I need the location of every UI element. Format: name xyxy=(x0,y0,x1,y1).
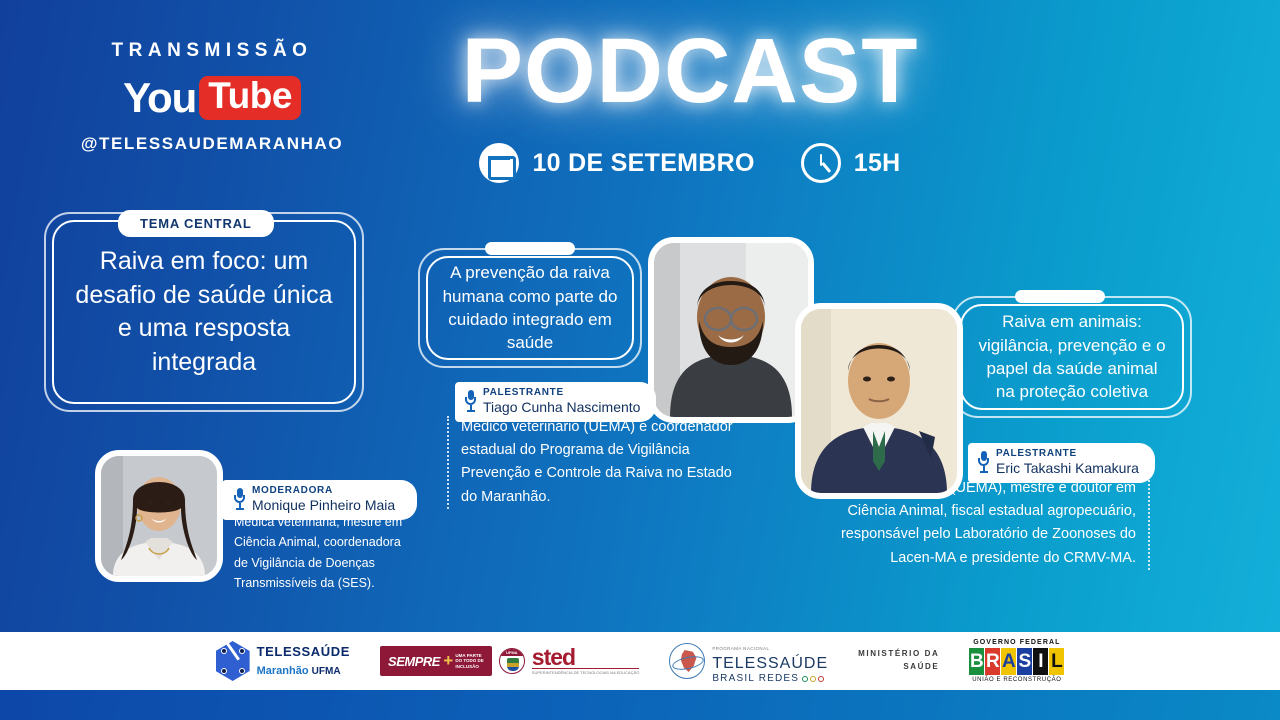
microphone-icon xyxy=(234,488,245,510)
event-time: 15H xyxy=(801,143,901,183)
sempre-sub: UMA PARTEDO TODO DEINCLUSÃO xyxy=(455,653,483,670)
event-meta-row: 10 DE SETEMBRO 15H xyxy=(430,143,950,183)
speaker-2-badge: PALESTRANTE Eric Takashi Kamakura xyxy=(968,443,1155,483)
speaker-2-topic: Raiva em animais: vigilância, prevenção … xyxy=(962,310,1182,404)
speaker-1-topic-card: A prevenção da raiva humana como parte d… xyxy=(418,248,642,368)
brasil-wordmark: B R A S I L xyxy=(969,648,1064,675)
speaker-2-portrait xyxy=(801,309,957,493)
clock-icon xyxy=(801,143,841,183)
speaker-2-card-tab xyxy=(1015,290,1105,303)
ministerio-line2: SAÚDE xyxy=(903,662,939,671)
tbr-line2: TELESSAÚDE xyxy=(712,655,828,672)
speaker-1-card-tab xyxy=(485,242,575,255)
ufma-seal-icon: UFMA xyxy=(499,648,525,674)
moderator-role: MODERADORA xyxy=(252,485,395,496)
logo-sempre-mais: SEMPRE + UMA PARTEDO TODO DEINCLUSÃO UFM… xyxy=(380,646,639,676)
governo-federal-bottom: UNIÃO E RECONSTRUÇÃO xyxy=(969,677,1064,683)
telessaude-label-line3: UFMA xyxy=(312,666,341,677)
governo-federal-top: GOVERNO FEDERAL xyxy=(969,639,1064,646)
speaker-2-photo xyxy=(795,303,963,499)
hexagon-network-icon xyxy=(216,641,250,681)
speaker-1-badge: PALESTRANTE Tiago Cunha Nascimento xyxy=(455,382,656,422)
event-date: 10 DE SETEMBRO xyxy=(479,143,754,183)
moderator-badge: MODERADORA Monique Pinheiro Maia xyxy=(222,480,417,520)
speaker-1-photo xyxy=(648,237,814,423)
broadcast-block: TRANSMISSÃO You Tube @TELESSAUDEMARANHAO xyxy=(62,40,362,154)
moderator-portrait xyxy=(101,456,217,576)
telessaude-label-line2: Maranhão xyxy=(257,665,309,677)
tbr-circles-icon xyxy=(802,676,824,682)
broadcast-label: TRANSMISSÃO xyxy=(62,40,362,62)
speaker-1-name: Tiago Cunha Nascimento xyxy=(483,399,640,416)
youtube-you-text: You xyxy=(123,77,196,119)
card-inner-border: A prevenção da raiva humana como parte d… xyxy=(426,256,634,360)
brazil-map-icon xyxy=(669,643,705,679)
tbr-line1: PROGRAMA NACIONAL xyxy=(712,646,769,651)
tema-central-badge: TEMA CENTRAL xyxy=(118,210,274,237)
ministerio-line1: MINISTÉRIO DA xyxy=(858,649,939,658)
sted-sub: SUPERINTENDÊNCIA DE TECNOLOGIAS NA EDUCA… xyxy=(532,668,640,675)
event-date-text: 10 DE SETEMBRO xyxy=(532,149,754,178)
speaker-2-topic-card: Raiva em animais: vigilância, prevenção … xyxy=(952,296,1192,418)
logo-telessaude-maranhao-ufma: TELESSAÚDE Maranhão UFMA xyxy=(216,641,350,681)
card-inner-border: Raiva em foco: um desafio de saúde única… xyxy=(52,220,356,404)
youtube-logo: You Tube xyxy=(62,76,362,120)
footer-blue-strip xyxy=(0,690,1280,720)
microphone-icon xyxy=(978,451,989,473)
sempre-plus-icon: + xyxy=(443,651,452,671)
speaker-1-role: PALESTRANTE xyxy=(483,387,640,398)
event-time-text: 15H xyxy=(854,149,901,178)
footer-logo-bar: TELESSAÚDE Maranhão UFMA SEMPRE + UMA PA… xyxy=(0,632,1280,690)
moderator-photo xyxy=(95,450,223,582)
tema-central-title: Raiva em foco: um desafio de saúde única… xyxy=(54,245,354,379)
card-inner-border: Raiva em animais: vigilância, prevenção … xyxy=(960,304,1184,410)
page-title: PODCAST xyxy=(430,25,950,117)
calendar-icon xyxy=(479,143,519,183)
sted-text: sted xyxy=(532,644,575,670)
moderator-name: Monique Pinheiro Maia xyxy=(252,497,395,514)
youtube-tube-badge: Tube xyxy=(199,76,301,120)
sempre-text: SEMPRE xyxy=(388,654,440,669)
speaker-1-topic: A prevenção da raiva humana como parte d… xyxy=(428,261,632,355)
microphone-icon xyxy=(465,390,476,412)
tbr-line3: BRASIL REDES xyxy=(712,673,799,685)
youtube-handle: @TELESSAUDEMARANHAO xyxy=(62,134,362,154)
moderator-bio: Médica veterinária, mestre em Ciência An… xyxy=(234,512,414,593)
speaker-1-bio: Médico veterinário (UEMA) e coordenador … xyxy=(447,416,737,509)
logo-governo-federal: GOVERNO FEDERAL B R A S I L UNIÃO E RECO… xyxy=(969,639,1064,683)
logo-ministerio-da-saude: MINISTÉRIO DA SAÚDE xyxy=(858,648,939,674)
tema-central-card: Raiva em foco: um desafio de saúde única… xyxy=(44,212,364,412)
speaker-1-portrait xyxy=(654,243,808,417)
telessaude-label-line1: TELESSAÚDE xyxy=(257,644,350,659)
speaker-2-name: Eric Takashi Kamakura xyxy=(996,460,1139,477)
speaker-2-role: PALESTRANTE xyxy=(996,448,1139,459)
logo-telessaude-brasil-redes: PROGRAMA NACIONAL TELESSAÚDE BRASIL REDE… xyxy=(669,637,828,685)
